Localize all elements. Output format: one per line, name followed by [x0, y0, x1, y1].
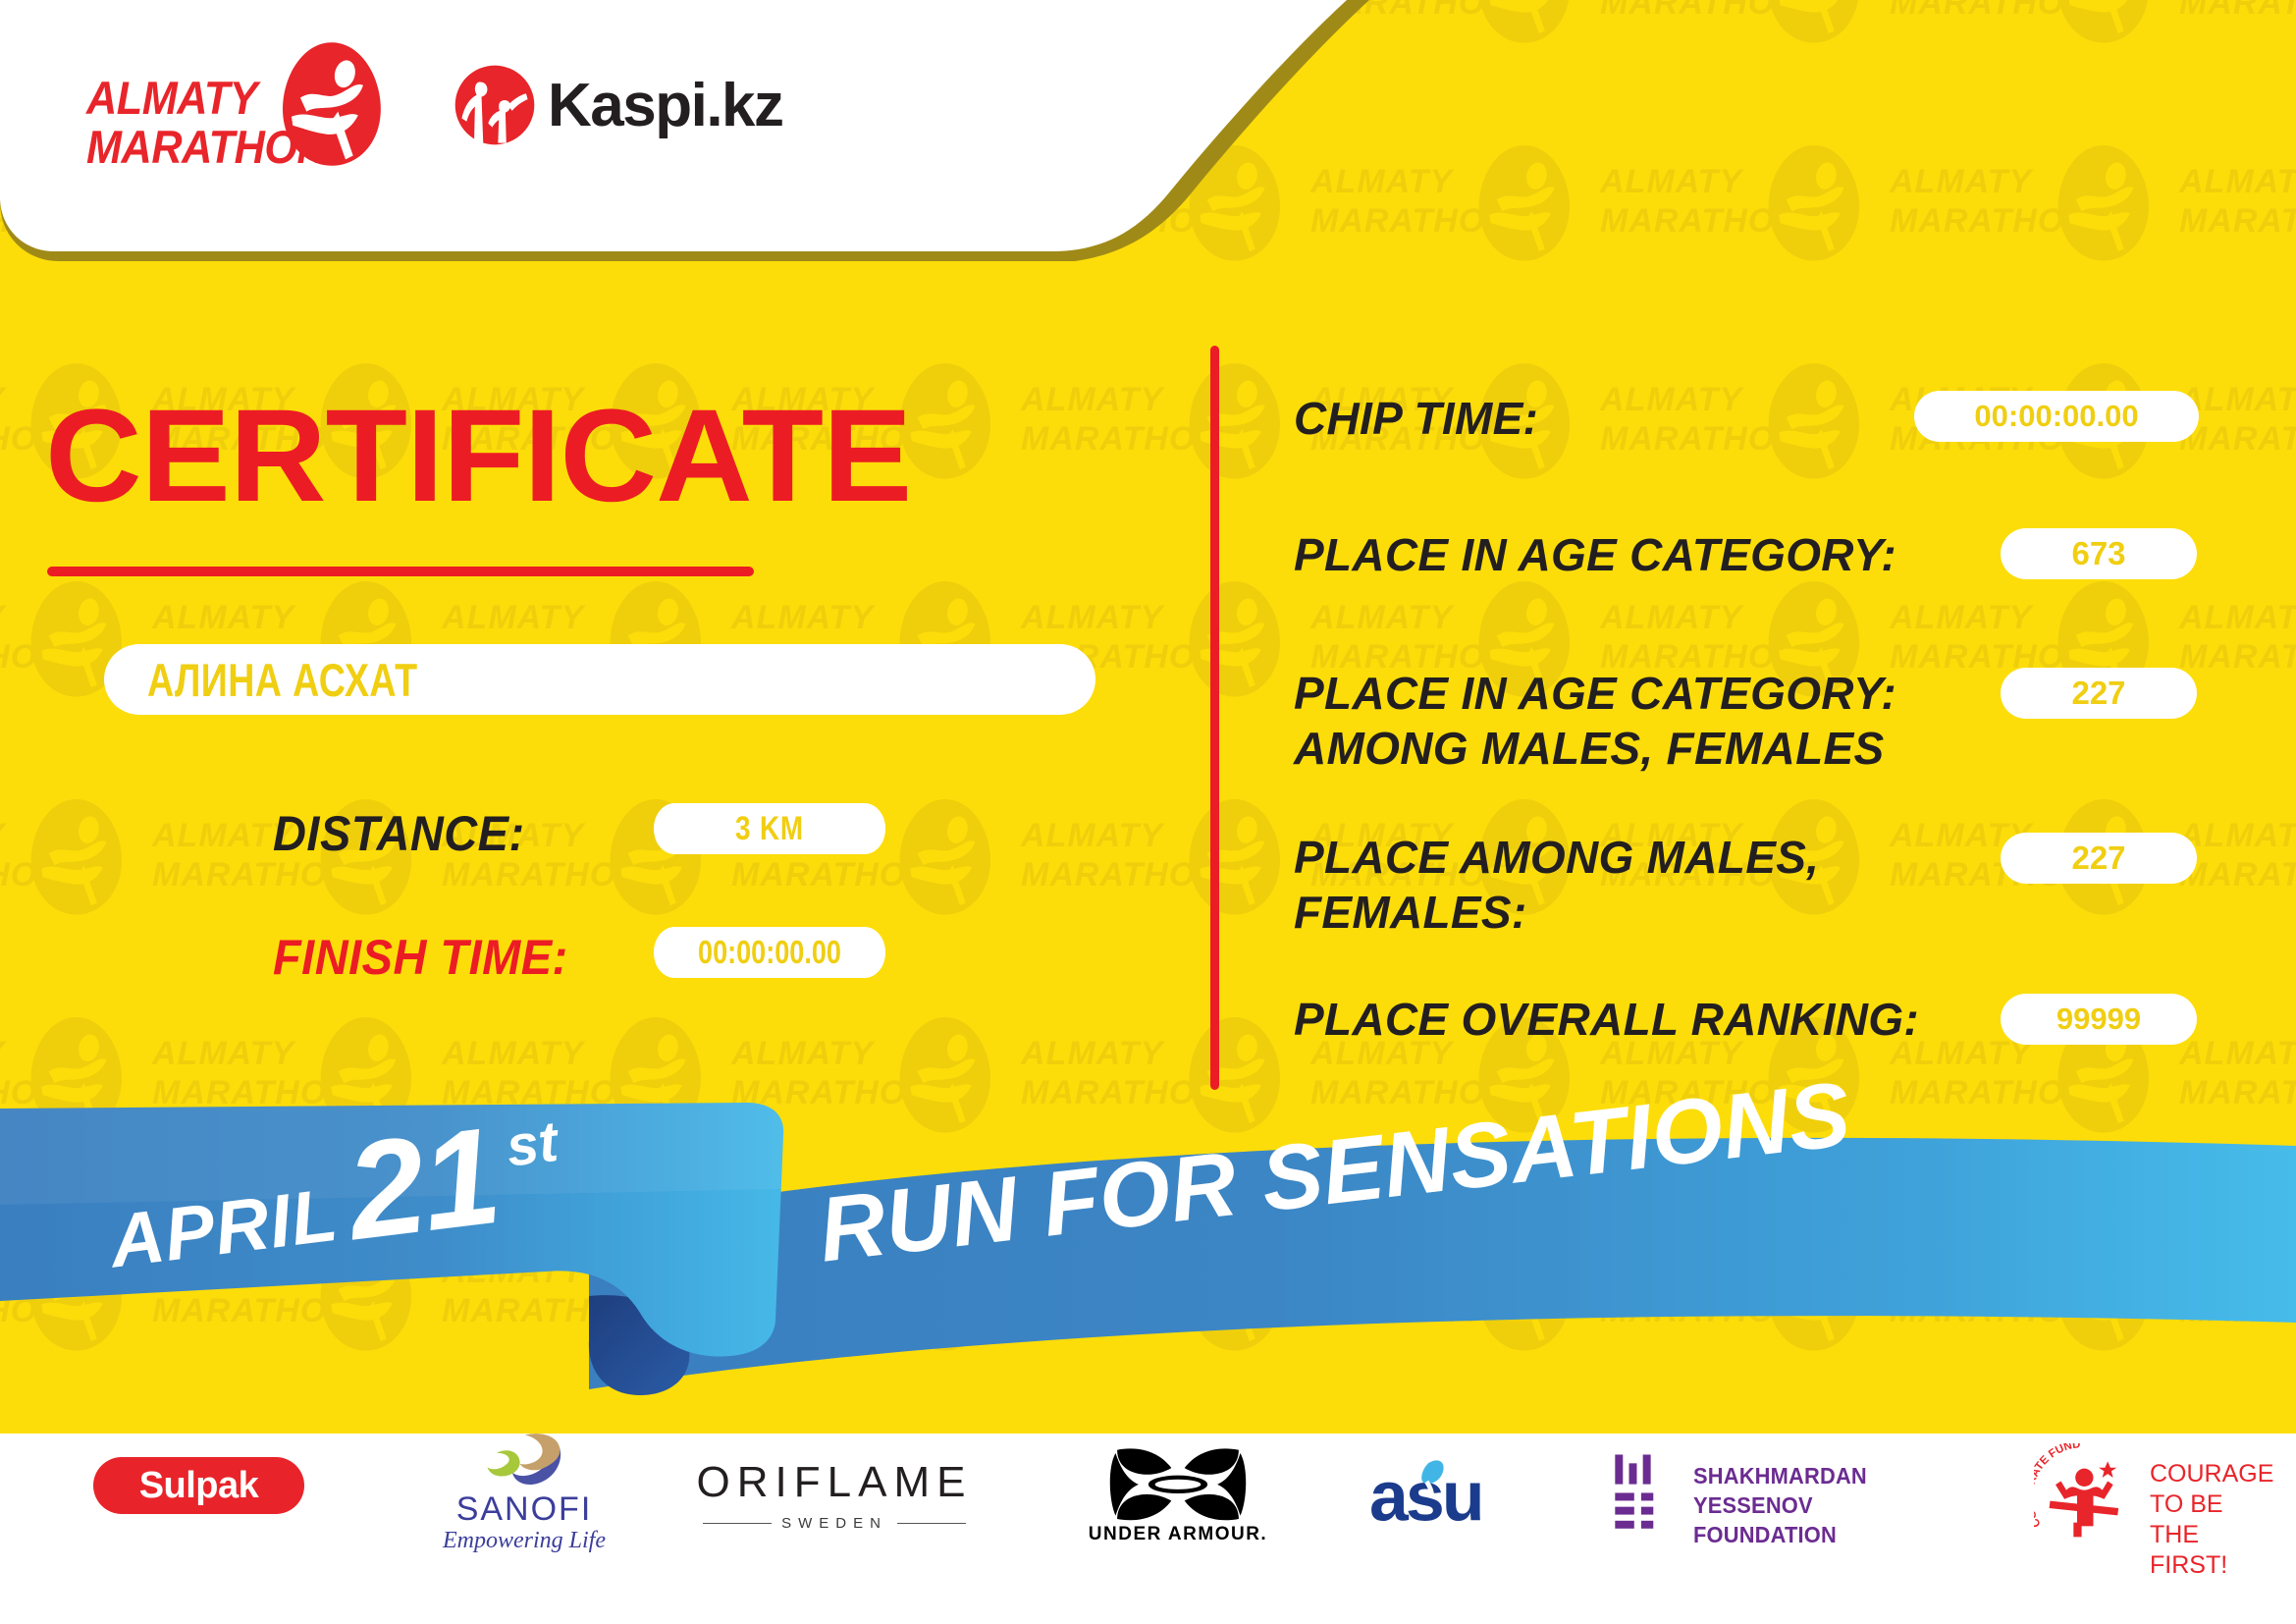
header-logo-bar: ALMATY MARATHON Kaspi.kz: [0, 0, 1178, 196]
almaty-marathon-line1: ALMATY: [86, 72, 257, 124]
yessenov-wordmark: SHAKHMARDAN YESSENOV FOUNDATION: [1693, 1461, 1927, 1549]
place-among-males-line1: PLACE AMONG MALES,: [1294, 832, 1819, 883]
place-age-category-among-line2: AMONG MALES, FEMALES: [1294, 723, 1884, 774]
oriflame-rule-right: [897, 1523, 966, 1524]
yessenov-line2: FOUNDATION: [1693, 1522, 1837, 1547]
certificate-canvas: ALMATY MARATHON: [0, 0, 2296, 1624]
title-underline-rule: [47, 567, 754, 576]
place-among-males-females-label: PLACE AMONG MALES, FEMALES:: [1294, 830, 2001, 940]
oriflame-wordmark: ORIFLAME: [692, 1458, 977, 1507]
place-among-males-females-value[interactable]: 227: [2001, 833, 2197, 884]
certificate-title: CERTIFICATE: [45, 391, 911, 522]
chip-time-value[interactable]: 00:00:00.00: [1914, 391, 2199, 442]
oriflame-sub-row: SWEDEN: [692, 1515, 977, 1532]
yessenov-bars-icon: [1610, 1449, 1671, 1543]
kaspi-wordmark: Kaspi.kz: [548, 71, 783, 140]
distance-label: DISTANCE:: [273, 805, 525, 862]
sponsor-sanofi-logo: SANOFI Empowering Life: [410, 1434, 636, 1543]
courage-line3: THE FIRST!: [2150, 1521, 2227, 1579]
kaspi-family-circle-icon: [454, 64, 536, 146]
asu-wordmark-icon: asu: [1369, 1453, 1526, 1538]
column-divider: [1210, 346, 1219, 1090]
place-overall-ranking-value[interactable]: 99999: [2001, 994, 2197, 1045]
sanofi-wordmark: SANOFI: [426, 1490, 622, 1529]
yessenov-line1: SHAKHMARDAN YESSENOV: [1693, 1463, 1867, 1518]
sponsor-asu-logo: asu: [1369, 1453, 1526, 1542]
place-age-category-among-value[interactable]: 227: [2001, 668, 2197, 719]
finish-time-label: FINISH TIME:: [273, 929, 568, 986]
sponsor-oriflame-logo: ORIFLAME SWEDEN: [692, 1458, 977, 1537]
finish-time-value[interactable]: 00:00:00.00: [654, 927, 885, 978]
kaspi-kz-logo: Kaspi.kz: [454, 61, 728, 151]
place-age-category-among-line1: PLACE IN AGE CATEGORY:: [1294, 668, 1896, 719]
courage-slogan: COURAGE TO BE THE FIRST!: [2150, 1459, 2273, 1581]
oriflame-rule-left: [703, 1523, 772, 1524]
place-among-males-line2: FEMALES:: [1294, 887, 1527, 938]
courage-line1: COURAGE: [2150, 1460, 2273, 1488]
sponsor-yessenov-foundation-logo: SHAKHMARDAN YESSENOV FOUNDATION: [1610, 1443, 1934, 1551]
sponsor-courage-to-be-the-first-logo: CORPORATE FUND COURAGE TO BE THE FIRST!: [2042, 1443, 2253, 1551]
sponsor-under-armour-logo: UNDER ARMOUR.: [1085, 1443, 1271, 1551]
event-day: 21: [341, 1111, 504, 1257]
chip-time-label: CHIP TIME:: [1294, 391, 1981, 446]
sulpak-wordmark: Sulpak: [93, 1457, 304, 1514]
sanofi-mark-icon: [464, 1430, 582, 1492]
sponsor-sulpak-logo: Sulpak: [93, 1457, 304, 1514]
oriflame-sweden-label: SWEDEN: [781, 1515, 887, 1532]
almaty-marathon-logo: ALMATY MARATHON: [86, 41, 391, 167]
athlete-name-value: АЛИНА АСХАТ: [147, 644, 417, 715]
distance-value[interactable]: 3 KM: [654, 803, 885, 854]
under-armour-wordmark: UNDER ARMOUR.: [1085, 1524, 1271, 1545]
courage-line2: TO BE: [2150, 1490, 2223, 1518]
place-age-category-among-label: PLACE IN AGE CATEGORY: AMONG MALES, FEMA…: [1294, 666, 2001, 776]
running-figure-drop-icon: [276, 41, 384, 167]
place-age-category-label: PLACE IN AGE CATEGORY:: [1294, 527, 1981, 582]
sanofi-tagline: Empowering Life: [426, 1528, 622, 1554]
courage-figure-icon: CORPORATE FUND: [2034, 1443, 2142, 1551]
under-armour-mark-icon: [1085, 1443, 1271, 1534]
place-overall-ranking-label: PLACE OVERALL RANKING:: [1294, 992, 2020, 1047]
place-age-category-value[interactable]: 673: [2001, 528, 2197, 579]
